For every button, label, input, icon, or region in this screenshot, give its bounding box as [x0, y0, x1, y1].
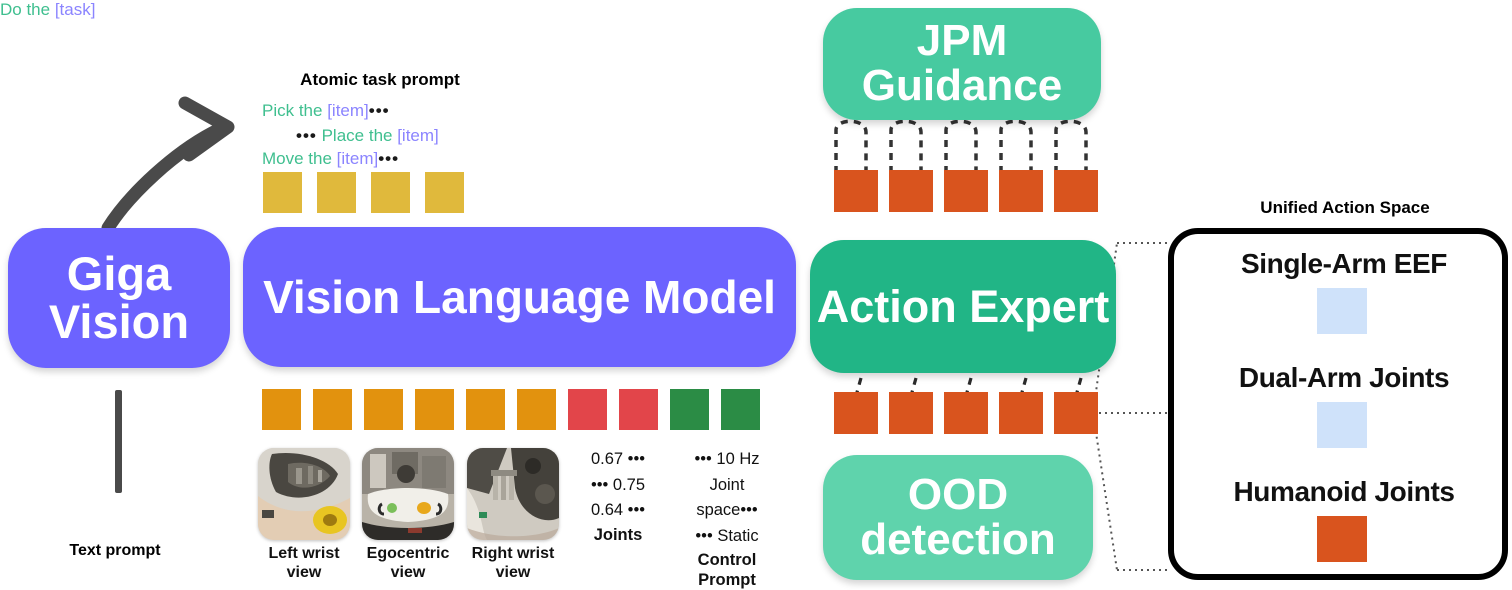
- joints-value-2: ••• 0.75: [570, 473, 666, 499]
- text-prompt-slot: [task]: [55, 0, 96, 19]
- jpm-token-2: [944, 170, 988, 212]
- ood-label-line1: OOD: [860, 473, 1056, 518]
- vlm-token-8: [670, 389, 709, 430]
- vlm-token-4: [466, 389, 505, 430]
- egocentric-view-caption: Egocentric view: [353, 545, 463, 583]
- atomic-line3-ellipsis: •••: [378, 149, 399, 168]
- left-wrist-view-image: [258, 448, 350, 540]
- vlm-token-5: [517, 389, 556, 430]
- jpm-token-1: [889, 170, 933, 212]
- joints-caption: Joints: [570, 526, 666, 545]
- atomic-line3-slot: [item]: [337, 149, 379, 168]
- left-wrist-caption-l1: Left wrist: [268, 545, 339, 562]
- control-prompt-caption-l2: Prompt: [698, 571, 756, 589]
- vlm-token-2: [364, 389, 403, 430]
- atomic-token-1: [317, 172, 356, 213]
- atomic-line2-slot: [item]: [397, 126, 439, 145]
- vlm-token-9: [721, 389, 760, 430]
- ood-detection-block[interactable]: OOD detection: [823, 455, 1093, 580]
- control-prompt-value-2a: Joint: [672, 473, 782, 499]
- giga-vision-input-stem: [115, 390, 122, 493]
- atomic-task-token-row: [263, 172, 464, 213]
- text-prompt-verb: Do the: [0, 0, 55, 19]
- egocentric-caption-l2: view: [391, 564, 426, 581]
- uas-group-1-cell-4: [1321, 402, 1367, 448]
- unified-action-space-group-2: Humanoid Joints: [1174, 476, 1512, 516]
- atomic-prompt-line-3: Move the [item]•••: [262, 149, 399, 169]
- vlm-token-7: [619, 389, 658, 430]
- jpm-guidance-block[interactable]: JPM Guidance: [823, 8, 1101, 120]
- giga-to-atomic-arrow-shaft: [108, 128, 222, 228]
- uas-group-2-cell-4: [1321, 516, 1367, 562]
- unified-action-space-panel: Single-Arm EEF Dual-Arm Joints Humanoid …: [1168, 228, 1508, 580]
- left-wrist-view-caption: Left wrist view: [249, 545, 359, 583]
- giga-vision-label-line2: Vision: [49, 298, 189, 346]
- action-expert-label: Action Expert: [817, 284, 1110, 330]
- right-wrist-caption-l2: view: [496, 564, 531, 581]
- atomic-line2-ellipsis: •••: [296, 126, 317, 145]
- egocentric-view-thumbnail[interactable]: [362, 448, 454, 540]
- unified-action-space-group-1-label: Dual-Arm Joints: [1174, 362, 1512, 394]
- joints-values-column: 0.67 ••• ••• 0.75 0.64 ••• Joints: [570, 447, 666, 545]
- left-wrist-caption-l2: view: [287, 564, 322, 581]
- jpm-token-3: [999, 170, 1043, 212]
- uas-group-0-cell-4: [1321, 288, 1367, 334]
- atomic-token-2: [371, 172, 410, 213]
- atomic-token-3: [425, 172, 464, 213]
- vlm-input-token-row: [262, 389, 760, 430]
- joints-value-3: 0.64 •••: [570, 498, 666, 524]
- left-wrist-view-thumbnail[interactable]: [258, 448, 350, 540]
- jpm-label-line2: Guidance: [862, 64, 1063, 109]
- unified-action-space-group-2-label: Humanoid Joints: [1174, 476, 1512, 508]
- atomic-task-prompt-title: Atomic task prompt: [240, 70, 520, 90]
- egocentric-view-image: [362, 448, 454, 540]
- unified-action-space-group-0-label: Single-Arm EEF: [1174, 248, 1512, 280]
- action-token-4: [1054, 392, 1098, 434]
- atomic-line1-slot: [item]: [327, 101, 369, 120]
- right-wrist-view-caption: Right wrist view: [458, 545, 568, 583]
- atomic-line1-ellipsis: •••: [369, 101, 390, 120]
- jpm-token-4: [1054, 170, 1098, 212]
- action-token-1: [889, 392, 933, 434]
- vlm-token-0: [262, 389, 301, 430]
- vision-language-model-block[interactable]: Vision Language Model: [243, 227, 796, 367]
- vlm-token-1: [313, 389, 352, 430]
- right-wrist-caption-l1: Right wrist: [472, 545, 555, 562]
- control-prompt-value-1: ••• 10 Hz: [672, 447, 782, 473]
- action-expert-block[interactable]: Action Expert: [810, 240, 1116, 373]
- text-prompt-text: Do the [task]: [0, 0, 1512, 20]
- unified-action-space-group-0: Single-Arm EEF: [1174, 248, 1512, 288]
- atomic-line1-verb: Pick the: [262, 101, 327, 120]
- control-prompt-value-3: ••• Static: [672, 524, 782, 550]
- diagram-canvas: Giga Vision Do the [task] Text prompt At…: [0, 0, 1512, 589]
- control-prompt-caption: Control Prompt: [672, 551, 782, 590]
- atomic-line2-verb: Place the: [322, 126, 398, 145]
- jpm-token-row: [834, 170, 1098, 212]
- action-token-2: [944, 392, 988, 434]
- right-wrist-view-thumbnail[interactable]: [467, 448, 559, 540]
- control-prompt-value-2b: space•••: [672, 498, 782, 524]
- giga-vision-label-line1: Giga: [49, 250, 189, 298]
- action-token-row: [834, 392, 1098, 434]
- control-prompt-caption-l1: Control: [698, 551, 757, 569]
- jpm-token-0: [834, 170, 878, 212]
- ood-label-line2: detection: [860, 518, 1056, 563]
- unified-action-space-title: Unified Action Space: [1175, 198, 1512, 218]
- jpm-label-line1: JPM: [862, 19, 1063, 64]
- action-token-0: [834, 392, 878, 434]
- giga-to-atomic-arrow-head: [185, 103, 228, 155]
- action-token-3: [999, 392, 1043, 434]
- vlm-token-3: [415, 389, 454, 430]
- atomic-prompt-line-1: Pick the [item]•••: [262, 101, 390, 121]
- atomic-token-0: [263, 172, 302, 213]
- giga-vision-block[interactable]: Giga Vision: [8, 228, 230, 368]
- atomic-line3-verb: Move the: [262, 149, 337, 168]
- control-prompt-values-column: ••• 10 Hz Joint space••• ••• Static Cont…: [672, 447, 782, 590]
- unified-action-space-group-1: Dual-Arm Joints: [1174, 362, 1512, 402]
- vlm-token-6: [568, 389, 607, 430]
- joints-value-1: 0.67 •••: [570, 447, 666, 473]
- text-prompt-caption: Text prompt: [30, 541, 200, 560]
- egocentric-caption-l1: Egocentric: [367, 545, 450, 562]
- right-wrist-view-image: [467, 448, 559, 540]
- vlm-label: Vision Language Model: [263, 274, 776, 321]
- atomic-prompt-line-2: ••• Place the [item]: [296, 126, 439, 146]
